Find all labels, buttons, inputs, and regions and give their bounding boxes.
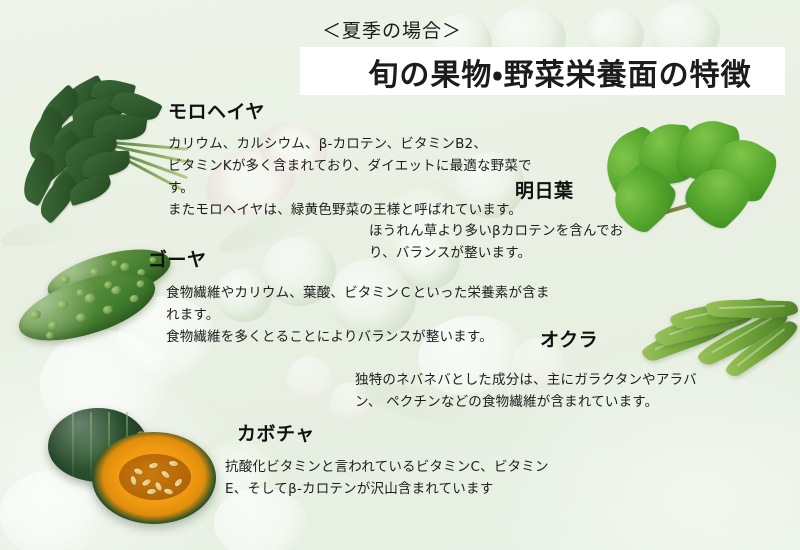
green-bean-watermark — [0, 214, 91, 251]
section-body-okra: 独特のネバネバとした成分は、主にガラクタンやアラバ ン、 ペクチンなどの食物繊維… — [355, 370, 720, 414]
section-heading-ashitaba: 明日葉 — [515, 176, 574, 203]
section-heading-kabocha: カボチャ — [237, 419, 549, 446]
section-moroheiya: モロヘイヤ カリウム、カルシウム、β-カロテン、ビタミンB2、 ビタミンKが多く… — [168, 97, 532, 221]
ashitaba-leaves-photo — [594, 118, 800, 230]
page-title: 旬の果物・野菜栄養面の特徴 — [340, 50, 780, 94]
section-okra: オクラ 独特のネバネバとした成分は、主にガラクタンやアラバ ン、 ペクチンなどの… — [540, 325, 598, 352]
section-ashitaba: 明日葉 ほうれん草より多いβカロテンを含んでお り、バランスが整います。 — [515, 176, 574, 203]
cauliflower-watermark — [0, 470, 110, 550]
section-kabocha: カボチャ 抗酸化ビタミンと言われているビタミンC、ビタミン E、そしてβ-カロテ… — [237, 419, 549, 501]
season-kicker: ＜夏季の場合＞ — [322, 16, 462, 43]
section-heading-moroheiya: モロヘイヤ — [168, 97, 532, 124]
bitter-melon-photo — [0, 252, 172, 368]
section-body-kabocha: 抗酸化ビタミンと言われているビタミンC、ビタミン E、そしてβ-カロテンが沢山含… — [225, 457, 549, 501]
section-body-moroheiya: カリウム、カルシウム、β-カロテン、ビタミンB2、 ビタミンKが多く含まれており… — [168, 134, 532, 221]
section-body-goya: 食物繊維やカリウム、葉酸、ビタミンＣといった栄養素が含ま れます。 食物繊維を多… — [166, 283, 550, 349]
section-heading-okra: オクラ — [540, 325, 598, 352]
kabocha-pumpkin-photo — [44, 404, 220, 530]
section-goya: ゴーヤ 食物繊維やカリウム、葉酸、ビタミンＣといった栄養素が含ま れます。 食物… — [148, 245, 550, 349]
molokheiya-bundle-photo — [8, 78, 188, 218]
garlic-watermark — [286, 356, 332, 400]
infographic-canvas: ＜夏季の場合＞ 旬の果物・野菜栄養面の特徴 モロヘイヤ カリウム、カルシウム、β… — [0, 0, 800, 550]
section-heading-goya: ゴーヤ — [148, 245, 550, 272]
